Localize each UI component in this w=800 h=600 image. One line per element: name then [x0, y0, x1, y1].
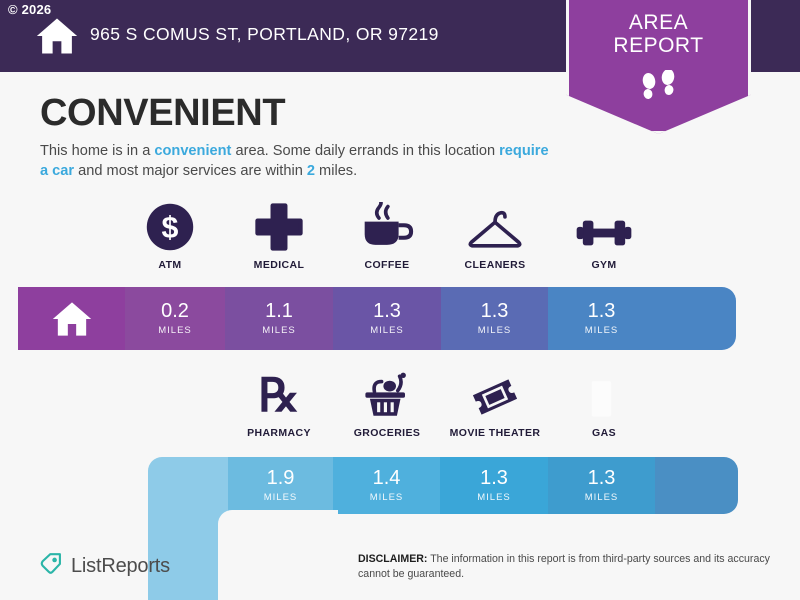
badge-label: AREA REPORT [566, 12, 751, 57]
distance-unit: MILES [158, 325, 192, 336]
poi-medical: MEDICAL [219, 200, 339, 271]
home-icon [36, 16, 78, 56]
property-address: 965 S COMUS ST, PORTLAND, OR 97219 [90, 24, 439, 45]
poi-pharmacy: ℞PHARMACY [219, 368, 339, 439]
distance-cell-movie-theater: 1.3MILES [440, 457, 548, 514]
row1-icon-group: $ATM MEDICAL COFFEE CLEANERS GYM [0, 200, 800, 288]
distance-value: 1.3 [481, 301, 509, 321]
desc-part-1: This home is in a [40, 143, 154, 159]
distance-value: 1.1 [265, 301, 293, 321]
distance-cell-coffee: 1.3MILES [333, 287, 441, 350]
badge-line-1: AREA [566, 12, 751, 35]
row-trailing-segment [655, 457, 738, 514]
distance-value: 1.3 [588, 301, 616, 321]
medical-cross-icon [219, 200, 339, 252]
listreports-logo: ListReports [40, 552, 170, 580]
poi-label: GAS [544, 427, 664, 439]
disclaimer-label: DISCLAIMER: [358, 553, 427, 565]
distance-unit: MILES [370, 325, 404, 336]
distance-value: 1.3 [480, 468, 508, 488]
distance-unit: MILES [585, 492, 619, 503]
movie-ticket-icon [435, 368, 555, 420]
distance-cell-gas: 1.3MILES [548, 457, 655, 514]
svg-text:$: $ [162, 212, 179, 245]
poi-cleaners: CLEANERS [435, 200, 555, 271]
poi-label: ATM [110, 259, 230, 271]
home-icon [52, 300, 92, 338]
svg-text:℞: ℞ [258, 370, 299, 420]
poi-movie-theater: MOVIE THEATER [435, 368, 555, 439]
gas-pump-icon [544, 368, 664, 420]
distance-value: 1.3 [373, 301, 401, 321]
area-report-badge: AREA REPORT [566, 0, 751, 134]
poi-coffee: COFFEE [327, 200, 447, 271]
copyright-label: © 2026 [8, 2, 51, 17]
disclaimer: DISCLAIMER: The information in this repo… [358, 552, 788, 582]
poi-label: COFFEE [327, 259, 447, 271]
desc-highlight-3: 2 [307, 163, 315, 179]
distance-unit: MILES [585, 325, 619, 336]
distance-value: 1.9 [267, 468, 295, 488]
row2-icon-group: ℞PHARMACY GROCERIES MOVIE THEATER GAS [0, 368, 800, 456]
row-trailing-segment [655, 287, 736, 350]
page-description: This home is in a convenient area. Some … [40, 141, 560, 181]
listreports-wordmark: ListReports [71, 555, 170, 578]
listreports-tag-icon [40, 552, 63, 580]
coffee-cup-icon [327, 200, 447, 252]
area-report-page: 965 S COMUS ST, PORTLAND, OR 97219 © 202… [0, 0, 800, 600]
desc-highlight-1: convenient [154, 143, 231, 159]
distance-cell-cleaners: 1.3MILES [441, 287, 548, 350]
row2-distance-bar: 1.9MILES1.4MILES1.3MILES1.3MILES [148, 457, 738, 514]
distance-value: 0.2 [161, 301, 189, 321]
distance-unit: MILES [264, 492, 298, 503]
poi-gas: GAS [544, 368, 664, 439]
poi-label: MEDICAL [219, 259, 339, 271]
desc-part-3: and most major services are within [74, 163, 307, 179]
home-marker-cell [18, 287, 125, 350]
dollar-circle-icon: $ [110, 200, 230, 252]
row2-tail-notch [218, 510, 338, 600]
dumbbell-icon [544, 200, 664, 252]
distance-unit: MILES [262, 325, 296, 336]
poi-label: GYM [544, 259, 664, 271]
desc-part-4: miles. [315, 163, 357, 179]
page-title: CONVENIENT [40, 92, 285, 135]
footprints-icon [566, 70, 751, 109]
distance-value: 1.3 [588, 468, 616, 488]
distance-value: 1.4 [373, 468, 401, 488]
rx-icon: ℞ [219, 368, 339, 420]
distance-cell-medical: 1.1MILES [225, 287, 333, 350]
distance-unit: MILES [370, 492, 404, 503]
poi-label: GROCERIES [327, 427, 447, 439]
poi-label: CLEANERS [435, 259, 555, 271]
poi-label: PHARMACY [219, 427, 339, 439]
distance-cell-groceries: 1.4MILES [333, 457, 440, 514]
poi-gym: GYM [544, 200, 664, 271]
distance-cell-pharmacy: 1.9MILES [228, 457, 333, 514]
desc-part-2: area. Some daily errands in this locatio… [231, 143, 499, 159]
row1-distance-bar: 0.2MILES1.1MILES1.3MILES1.3MILES1.3MILES [18, 287, 736, 350]
distance-unit: MILES [478, 325, 512, 336]
badge-line-2: REPORT [566, 35, 751, 58]
clothes-hanger-icon [435, 200, 555, 252]
poi-groceries: GROCERIES [327, 368, 447, 439]
poi-atm: $ATM [110, 200, 230, 271]
distance-cell-atm: 0.2MILES [125, 287, 225, 350]
row-leading-segment [148, 457, 228, 514]
grocery-basket-icon [327, 368, 447, 420]
poi-label: MOVIE THEATER [435, 427, 555, 439]
distance-cell-gym: 1.3MILES [548, 287, 655, 350]
distance-unit: MILES [477, 492, 511, 503]
